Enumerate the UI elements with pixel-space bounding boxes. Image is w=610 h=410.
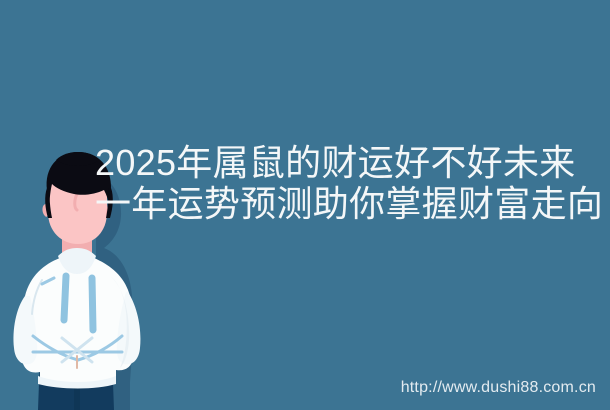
- poster-canvas: 2025年属鼠的财运好不好未来 一年运势预测助你掌握财富走向 http://ww…: [0, 0, 610, 410]
- drawstring-left-path: [64, 276, 66, 320]
- page-title: 2025年属鼠的财运好不好未来 一年运势预测助你掌握财富走向: [95, 142, 565, 224]
- title-line-1: 2025年属鼠的财运好不好未来: [95, 142, 565, 183]
- drawstring-right-path: [92, 278, 93, 330]
- title-line-2: 一年运势预测助你掌握财富走向: [95, 183, 565, 224]
- watermark-url: http://www.dushi88.com.cn: [401, 379, 596, 397]
